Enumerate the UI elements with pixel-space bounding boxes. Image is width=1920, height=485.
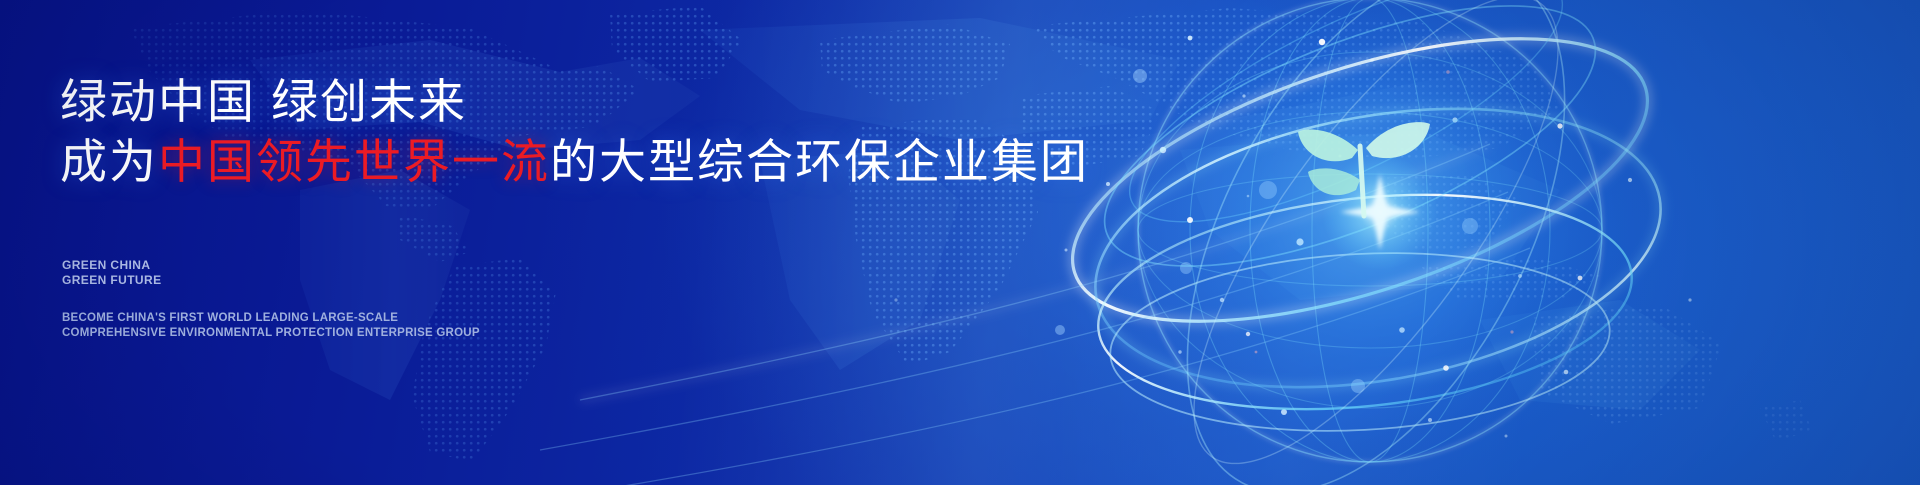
headline: 绿动中国 绿创未来 成为中国领先世界一流的大型综合环保企业集团 xyxy=(60,72,1089,192)
headline-line-2-highlight: 中国领先世界一流 xyxy=(158,135,550,188)
subline-line-2: COMPREHENSIVE ENVIRONMENTAL PROTECTION E… xyxy=(62,326,480,341)
tagline-line-2: GREEN FUTURE xyxy=(62,273,161,288)
headline-line-1: 绿动中国 绿创未来 xyxy=(60,72,1089,132)
tagline: GREEN CHINA GREEN FUTURE xyxy=(62,258,161,288)
hero-banner: 绿动中国 绿创未来 成为中国领先世界一流的大型综合环保企业集团 GREEN CH… xyxy=(0,0,1920,485)
subline-line-1: BECOME CHINA'S FIRST WORLD LEADING LARGE… xyxy=(62,311,480,326)
headline-line-2-prefix: 成为 xyxy=(60,135,158,188)
banner-copy: 绿动中国 绿创未来 成为中国领先世界一流的大型综合环保企业集团 GREEN CH… xyxy=(60,0,1060,485)
tagline-line-1: GREEN CHINA xyxy=(62,258,161,273)
headline-line-2-suffix: 的大型综合环保企业集团 xyxy=(550,135,1089,188)
wireframe-globe xyxy=(1060,0,1680,485)
subline: BECOME CHINA'S FIRST WORLD LEADING LARGE… xyxy=(62,311,480,340)
headline-line-2: 成为中国领先世界一流的大型综合环保企业集团 xyxy=(60,132,1089,192)
